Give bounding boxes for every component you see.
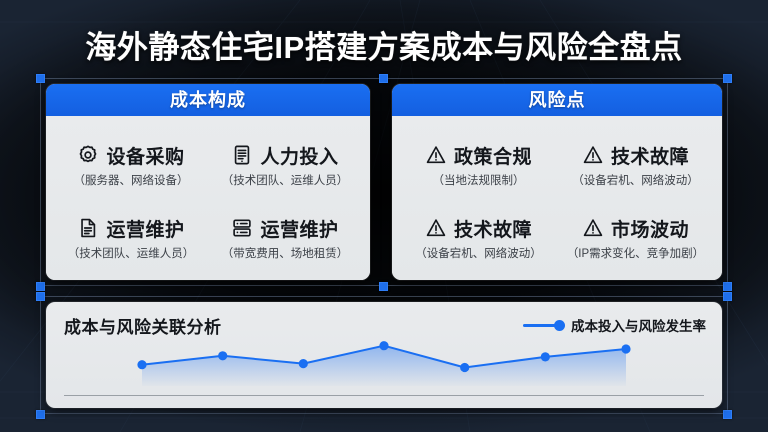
risk-item-0-sub: （当地法规限制） [433, 172, 525, 188]
risk-item-2-title: 技术故障 [454, 215, 532, 242]
chart-data-point[interactable] [541, 352, 550, 361]
risk-item-0[interactable]: 政策合规 （当地法规限制） [400, 128, 557, 201]
selection-handle-chart-bl[interactable] [36, 410, 45, 419]
server-icon [231, 217, 253, 239]
risk-item-0-title: 政策合规 [454, 142, 532, 169]
cost-item-2-sub: （技术团队、运维人员） [68, 245, 195, 261]
chart-axis-line [64, 395, 704, 396]
risk-item-2-sub: （设备宕机、网络波动） [415, 245, 542, 261]
cost-item-3-sub: （带宽费用、场地租赁） [222, 245, 349, 261]
selection-handle-bc[interactable] [379, 282, 388, 291]
selection-handle-chart-tr[interactable] [723, 292, 732, 301]
warning-triangle-icon [425, 217, 447, 239]
chart-area-fill [142, 346, 626, 386]
risk-item-1[interactable]: 技术故障 （设备宕机、网络波动） [557, 128, 714, 201]
panel-chart[interactable]: 成本与风险关联分析 成本投入与风险发生率 [46, 302, 722, 408]
panel-risk[interactable]: 风险点 政策合规 （当地法规限制） [392, 84, 722, 280]
selection-handle-tr[interactable] [723, 74, 732, 83]
risk-item-1-sub: （设备宕机、网络波动） [572, 172, 699, 188]
cost-item-0[interactable]: 设备采购 （服务器、网络设备） [54, 128, 208, 201]
warning-triangle-icon [582, 217, 604, 239]
selection-handle-chart-br[interactable] [723, 410, 732, 419]
document-icon [231, 144, 253, 166]
selection-handle-bl[interactable] [36, 282, 45, 291]
cost-item-2-title: 运营维护 [106, 215, 184, 242]
panel-cost[interactable]: 成本构成 设备采购 （服务器、网络设备） [46, 84, 370, 280]
cost-item-0-title: 设备采购 [106, 142, 184, 169]
selection-handle-chart-tl[interactable] [36, 292, 45, 301]
cost-item-3[interactable]: 运营维护 （带宽费用、场地租赁） [208, 201, 362, 274]
file-icon [77, 217, 99, 239]
cost-item-3-title: 运营维护 [260, 215, 338, 242]
chart-data-point[interactable] [218, 351, 227, 360]
selection-handle-br[interactable] [723, 282, 732, 291]
cost-item-1-sub: （技术团队、运维人员） [222, 172, 349, 188]
page-title: 海外静态住宅IP搭建方案成本与风险全盘点 [0, 22, 768, 67]
chart-data-point[interactable] [460, 363, 469, 372]
panel-risk-header: 风险点 [392, 84, 722, 116]
chart-data-point[interactable] [299, 359, 308, 368]
chart-data-point[interactable] [137, 360, 146, 369]
warning-triangle-icon [425, 144, 447, 166]
risk-item-2[interactable]: 技术故障 （设备宕机、网络波动） [400, 201, 557, 274]
panel-cost-header: 成本构成 [46, 84, 370, 116]
cost-item-1[interactable]: 人力投入 （技术团队、运维人员） [208, 128, 362, 201]
cost-item-1-title: 人力投入 [260, 142, 338, 169]
cost-item-2[interactable]: 运营维护 （技术团队、运维人员） [54, 201, 208, 274]
risk-item-3[interactable]: 市场波动 （IP需求变化、竞争加剧） [557, 201, 714, 274]
warning-triangle-icon [582, 144, 604, 166]
cost-item-0-sub: （服务器、网络设备） [74, 172, 189, 188]
risk-item-3-sub: （IP需求变化、竞争加剧） [567, 245, 704, 261]
panel-risk-body: 政策合规 （当地法规限制） 技术故障 （设备宕机、网络波动） [392, 116, 722, 280]
selection-handle-tc[interactable] [379, 74, 388, 83]
panel-cost-body: 设备采购 （服务器、网络设备） [46, 116, 370, 280]
chart-data-point[interactable] [621, 344, 630, 353]
gear-icon [77, 144, 99, 166]
chart-data-point[interactable] [379, 341, 388, 350]
selection-handle-tl[interactable] [36, 74, 45, 83]
risk-item-3-title: 市场波动 [611, 215, 689, 242]
slide-canvas: 海外静态住宅IP搭建方案成本与风险全盘点 成本构成 设备采购 [0, 0, 768, 432]
risk-item-1-title: 技术故障 [611, 142, 689, 169]
